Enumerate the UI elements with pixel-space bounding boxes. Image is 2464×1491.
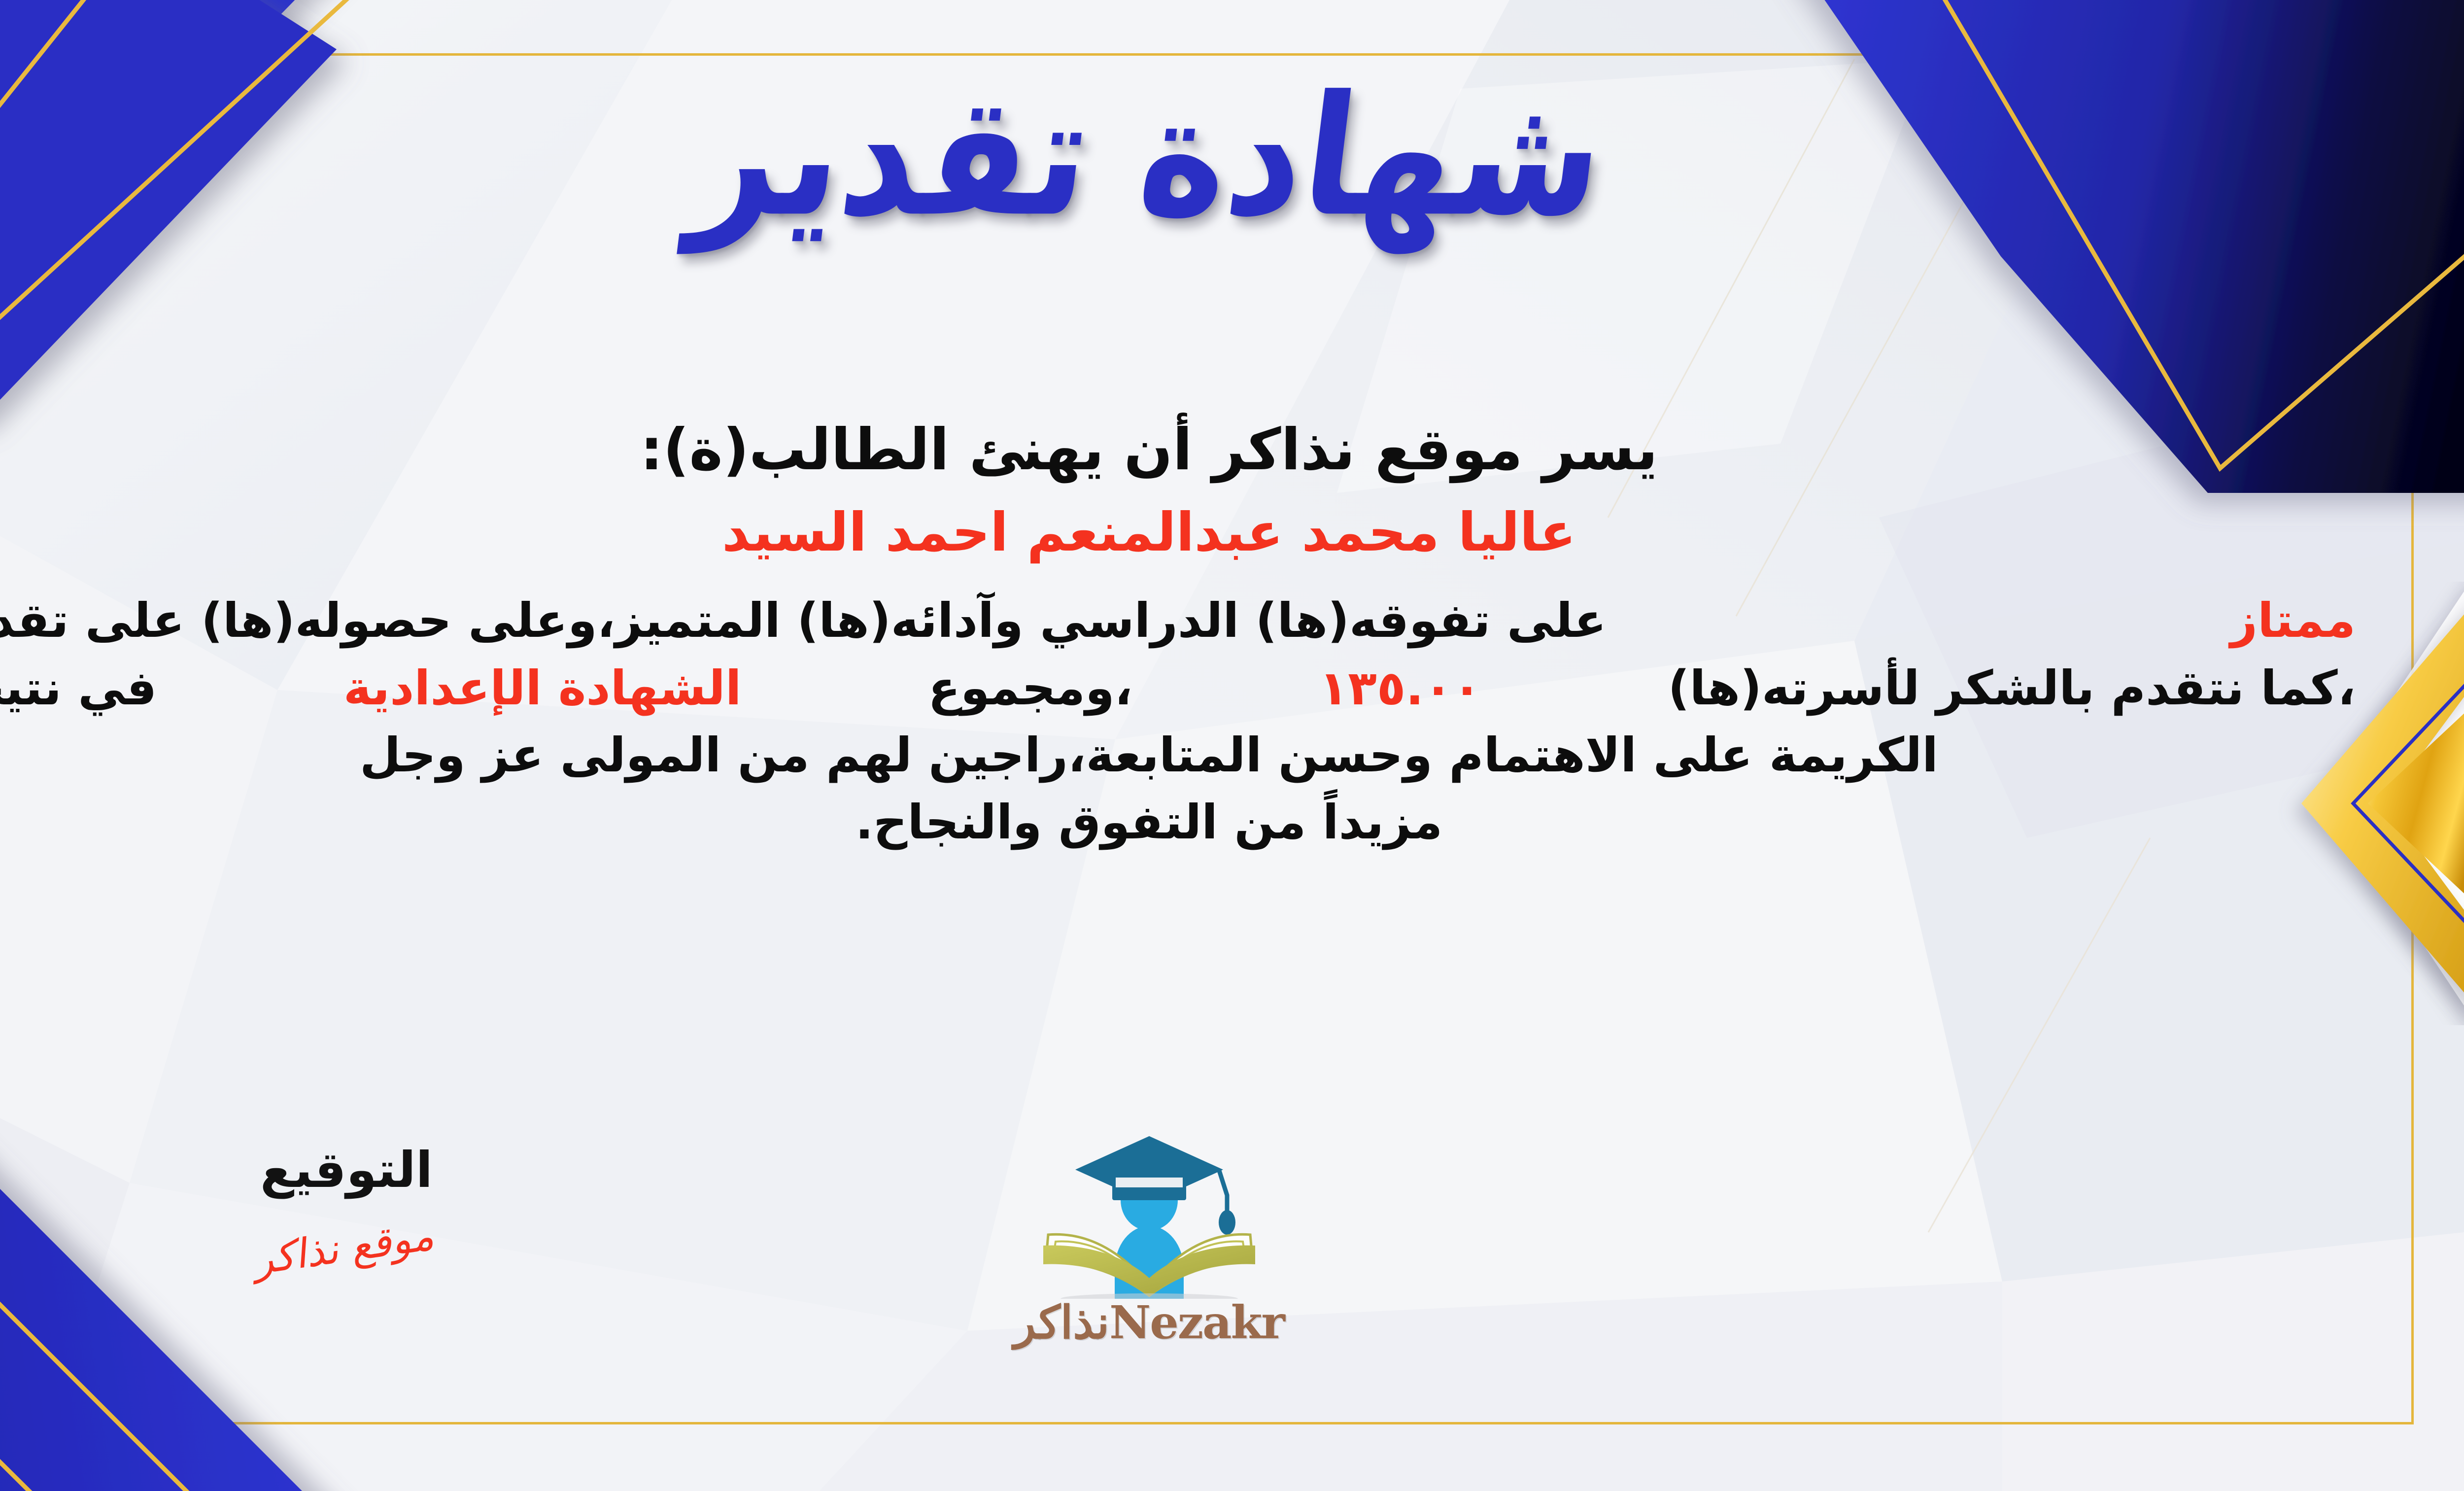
signature-block: التوقيع موقع نذاكر (208, 1141, 484, 1271)
certificate-body: يسر موقع نذاكر أن يهنئ الطالب(ة): عاليا … (0, 414, 2356, 856)
exam-name-value: الشهادة الإعدادية (343, 655, 742, 722)
citation-line-4: مزيداً من التفوق والنجاح. (0, 789, 2356, 856)
citation-line-1: ممتاز على تفوقه(ها) الدراسي وآدائه(ها) ا… (0, 587, 2356, 654)
certificate-page: شهادة تقدير يسر موقع نذاكر أن يهنئ الطال… (0, 0, 2464, 1491)
citation-line-3: الكريمة على الاهتمام وحسن المتابعة،راجين… (0, 722, 2356, 789)
grade-value: ممتاز (2230, 587, 2356, 654)
brand-logo: Nezakrنذاكر (977, 1121, 1322, 1349)
citation-line-2-head: في نتيجة (0, 655, 157, 722)
signature-script: موقع نذاكر (255, 1211, 438, 1284)
citation-line-2-tail: ،كما نتقدم بالشكر لأسرته(ها) (1668, 655, 2356, 722)
page-title: شهادة تقدير (683, 53, 1616, 260)
total-score-value: ١٣٥.٠٠ (1319, 655, 1481, 722)
citation-line-1-text: على تفوقه(ها) الدراسي وآدائه(ها) المتميز… (0, 587, 1607, 654)
citation-paragraph: ممتاز على تفوقه(ها) الدراسي وآدائه(ها) ا… (0, 587, 2356, 856)
certificate-footer: التوقيع موقع نذاكر (0, 1141, 2405, 1417)
greeting-line: يسر موقع نذاكر أن يهنئ الطالب(ة): (0, 414, 2356, 485)
certificate-title-block: شهادة تقدير (0, 64, 2464, 249)
brand-logo-text: Nezakrنذاكر (977, 1296, 1322, 1349)
graduate-book-icon (992, 1121, 1307, 1299)
student-name: عاليا محمد عبدالمنعم احمد السيد (0, 498, 2356, 567)
citation-line-2: ،كما نتقدم بالشكر لأسرته(ها) ١٣٥.٠٠ ،ومج… (0, 655, 2356, 722)
signature-label: التوقيع (208, 1141, 484, 1199)
citation-line-2-mid: ،ومجموع (928, 655, 1132, 722)
